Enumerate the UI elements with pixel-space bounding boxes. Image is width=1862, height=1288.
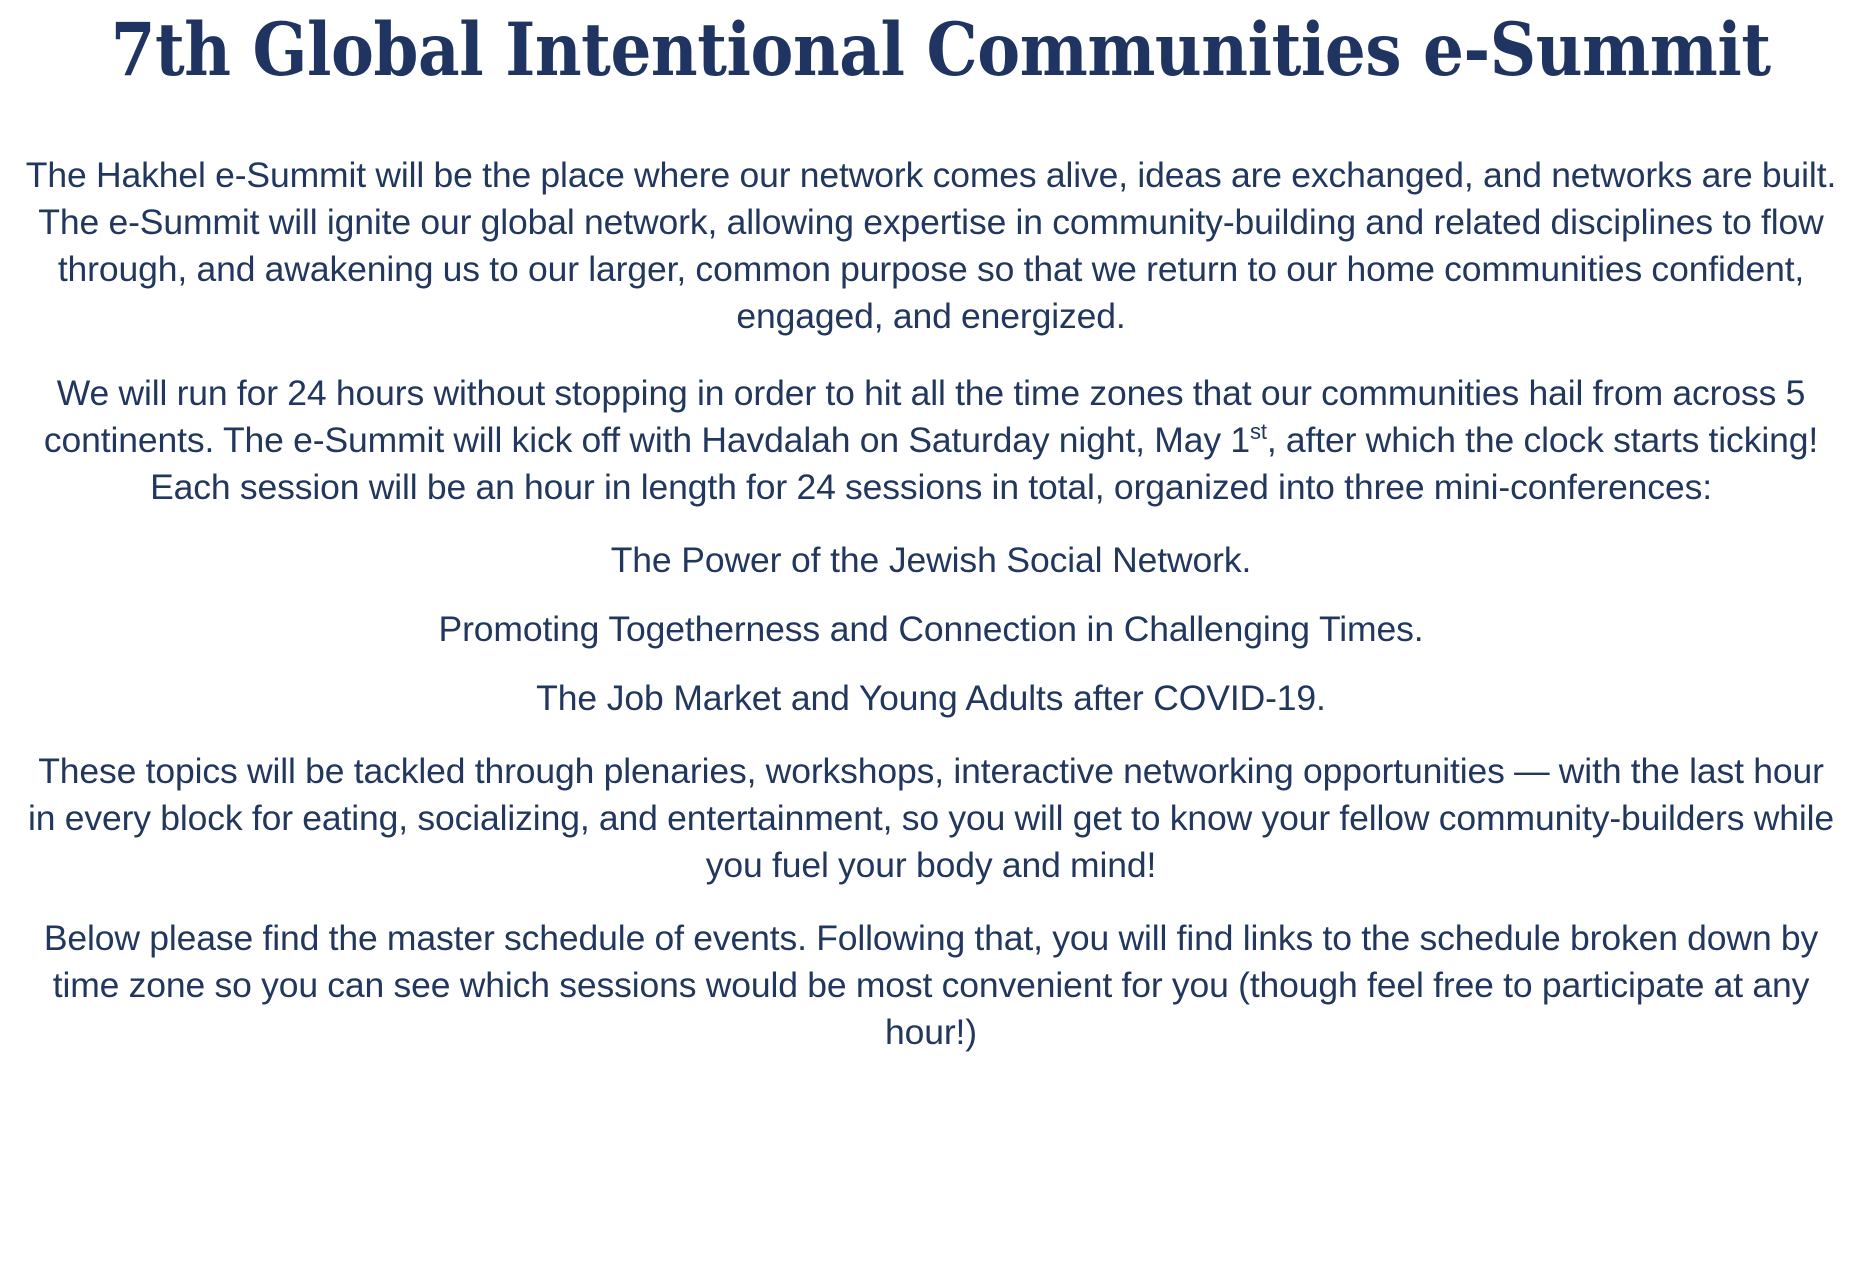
spacer [22,722,1840,748]
spacer [22,889,1840,915]
paragraph-format: These topics will be tackled through ple… [22,748,1840,889]
page-title: 7th Global Intentional Communities e-Sum… [111,4,1752,96]
document-body: The Hakhel e-Summit will be the place wh… [0,152,1862,1056]
spacer [22,511,1840,537]
paragraph-intro: The Hakhel e-Summit will be the place wh… [22,152,1840,340]
spacer [22,653,1840,675]
document-page: 7th Global Intentional Communities e-Sum… [0,0,1862,1288]
paragraph-schedule: We will run for 24 hours without stoppin… [22,370,1840,511]
mini-conference-title-2: Promoting Togetherness and Connection in… [22,606,1840,653]
mini-conference-title-1: The Power of the Jewish Social Network. [22,537,1840,584]
ordinal-suffix: st [1250,419,1267,444]
spacer [22,340,1840,370]
paragraph-closing: Below please find the master schedule of… [22,915,1840,1056]
mini-conference-title-3: The Job Market and Young Adults after CO… [22,675,1840,722]
spacer [22,584,1840,606]
